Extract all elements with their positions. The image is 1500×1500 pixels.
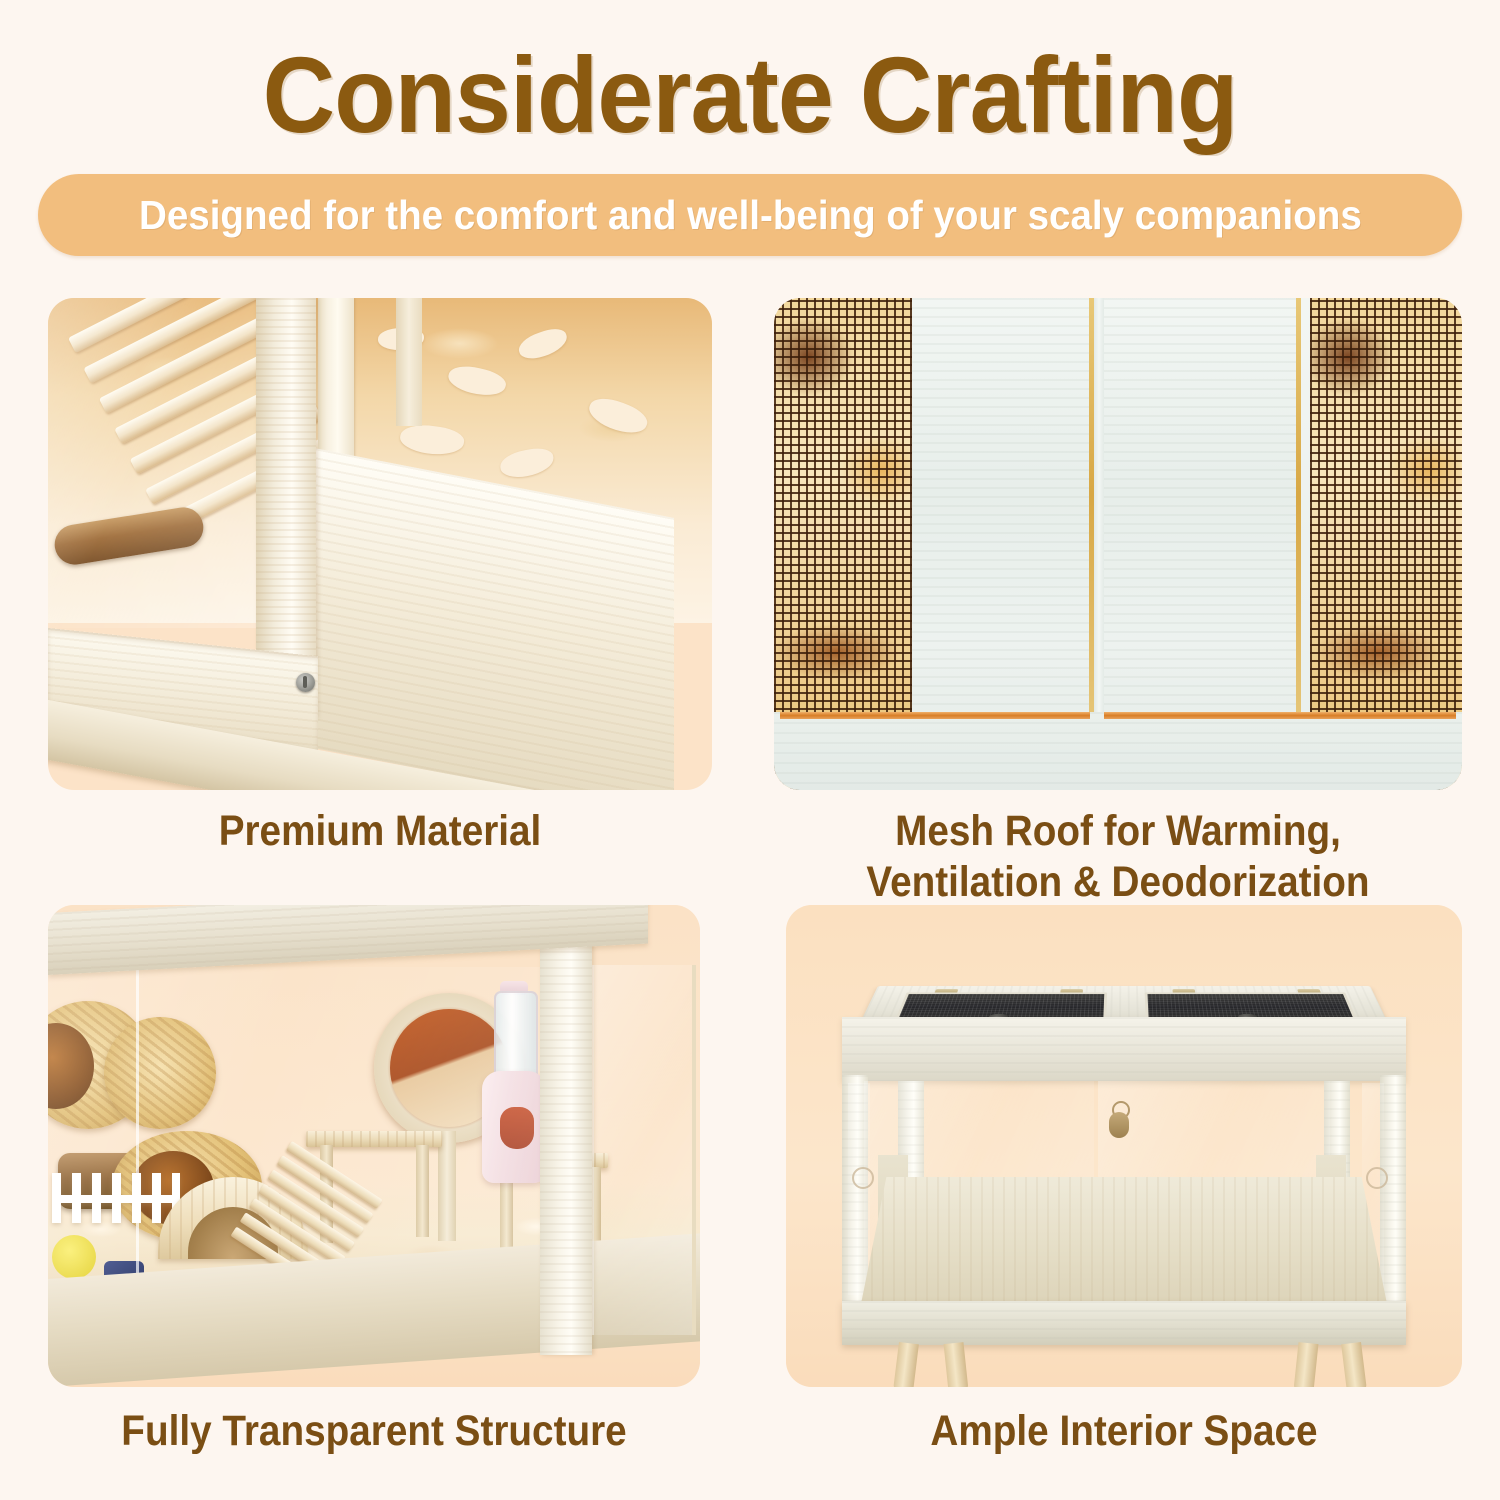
acrylic-panel-edge — [136, 967, 139, 1297]
latch-ring-icon[interactable] — [1108, 1101, 1130, 1141]
vent-hole-icon — [852, 1167, 874, 1189]
subtitle-text: Designed for the comfort and well-being … — [139, 192, 1362, 239]
caption-transparent-structure: Fully Transparent Structure — [81, 1406, 668, 1457]
support-post — [396, 298, 422, 426]
screw-icon — [296, 673, 315, 692]
caption-line-1: Mesh Roof for Warming, — [799, 806, 1436, 857]
lid-edge-strip — [780, 712, 1090, 719]
infographic-page: Considerate Crafting Designed for the co… — [0, 0, 1500, 1500]
feature-image-mesh-roof — [774, 298, 1462, 790]
cage-corner-post — [540, 935, 592, 1355]
support-post — [318, 298, 354, 474]
lid-front-rail — [774, 712, 1462, 790]
acrylic-panel — [48, 298, 263, 628]
interior-floor-tray — [860, 1177, 1388, 1309]
acrylic-side-panel — [592, 965, 696, 1335]
latch-plate — [1109, 1112, 1129, 1138]
page-title: Considerate Crafting — [53, 38, 1448, 151]
caption-ample-interior: Ample Interior Space — [820, 1406, 1428, 1457]
lid-edge-strip — [1104, 712, 1456, 719]
cage-top-rail — [842, 1017, 1406, 1081]
cage-base-rail — [842, 1301, 1406, 1345]
subtitle-banner: Designed for the comfort and well-being … — [38, 174, 1462, 256]
acrylic-side-panel — [848, 1083, 870, 1295]
feature-image-ample-interior — [786, 905, 1462, 1387]
caption-line-2: Ventilation & Deodorization — [799, 857, 1436, 908]
feature-image-transparent-structure — [48, 905, 700, 1387]
caption-mesh-roof: Mesh Roof for Warming, Ventilation & Deo… — [799, 806, 1436, 907]
vent-hole-icon — [1366, 1167, 1388, 1189]
caption-premium-material: Premium Material — [81, 806, 679, 857]
feature-image-premium-material — [48, 298, 712, 790]
